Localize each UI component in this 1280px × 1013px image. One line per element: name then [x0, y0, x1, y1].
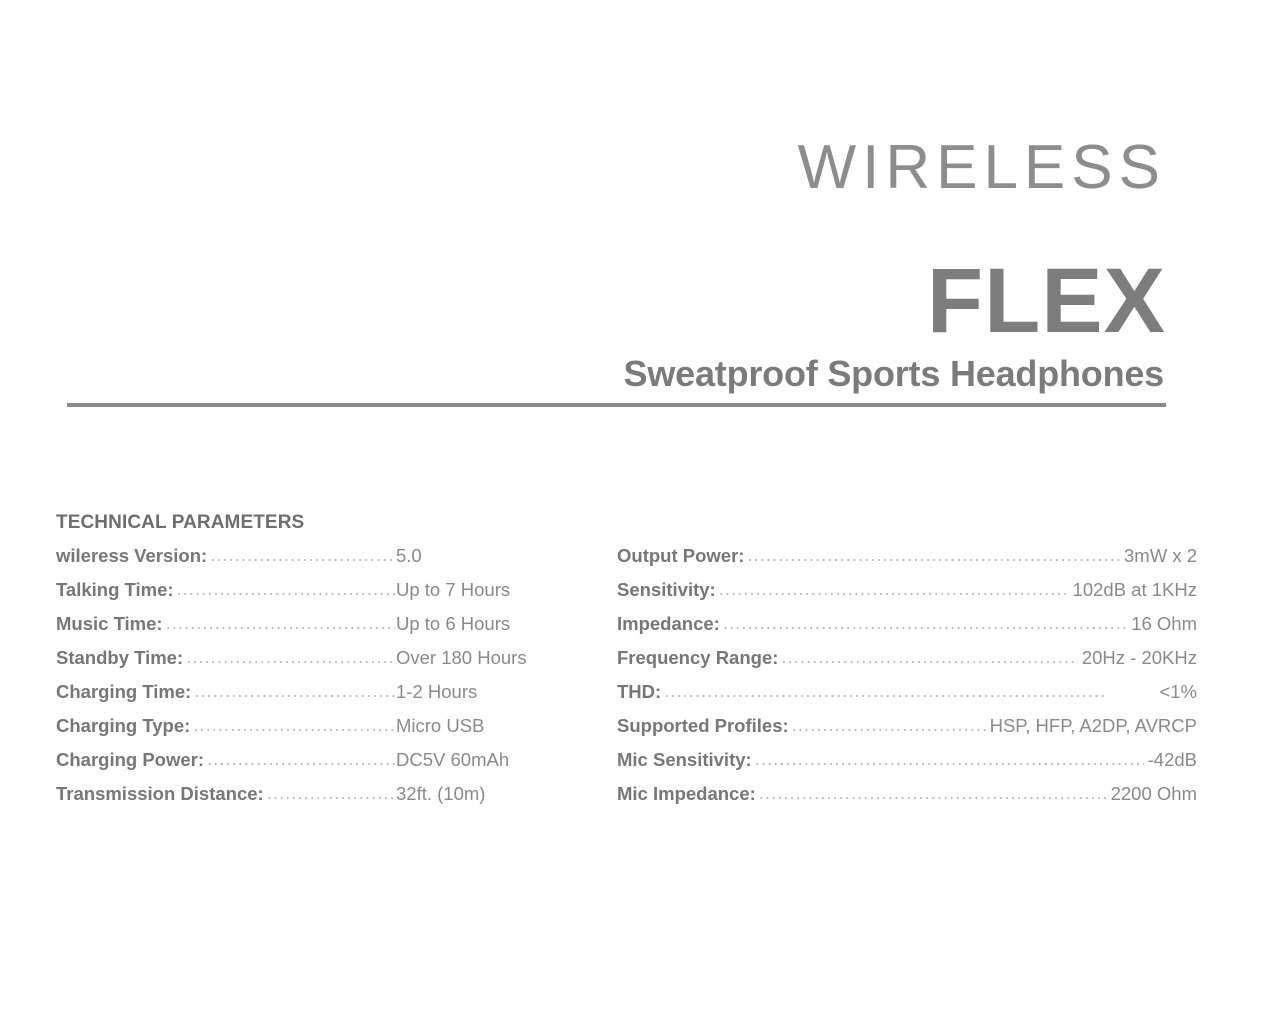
spec-dot-leader [792, 715, 986, 736]
spec-row: Standby Time:Over 180 Hours [56, 647, 556, 681]
spec-label: Charging Power: [56, 749, 204, 771]
spec-row: Mic Impedance:2200 Ohm [617, 783, 1197, 817]
spec-value: 16 Ohm [1131, 613, 1197, 635]
product-eyebrow-wireless: WIRELESS [798, 137, 1166, 199]
spec-row: Charging Time:1-2 Hours [56, 681, 556, 715]
spec-dot-leader [759, 783, 1107, 804]
spec-dot-leader [664, 681, 1155, 702]
spec-label: Charging Time: [56, 681, 191, 703]
spec-row: Output Power:3mW x 2 [617, 545, 1197, 579]
spec-value: 102dB at 1KHz [1073, 579, 1197, 601]
spec-value: 3mW x 2 [1124, 545, 1197, 567]
spec-dot-leader [177, 579, 395, 600]
spec-dot-leader [210, 545, 395, 566]
spec-label: Impedance: [617, 613, 720, 635]
spec-value: 1-2 Hours [396, 681, 556, 703]
spec-dot-leader [781, 647, 1077, 668]
spec-dot-leader [166, 613, 395, 634]
spec-label: Mic Sensitivity: [617, 749, 752, 771]
spec-row: Music Time:Up to 6 Hours [56, 613, 556, 647]
spec-row: wileress Version:5.0 [56, 545, 556, 579]
spec-row: Frequency Range:20Hz - 20KHz [617, 647, 1197, 681]
spec-value: Micro USB [396, 715, 556, 737]
spec-dot-leader [193, 715, 395, 736]
spec-label: Transmission Distance: [56, 783, 264, 805]
spec-value: 2200 Ohm [1111, 783, 1197, 805]
technical-parameters-heading: TECHNICAL PARAMETERS [56, 512, 304, 534]
spec-row: Mic Sensitivity:-42dB [617, 749, 1197, 783]
spec-label: wileress Version: [56, 545, 207, 567]
spec-column-left: wileress Version:5.0Talking Time:Up to 7… [56, 545, 556, 817]
spec-row: Sensitivity:102dB at 1KHz [617, 579, 1197, 613]
spec-label: Mic Impedance: [617, 783, 756, 805]
spec-row: Supported Profiles:HSP, HFP, A2DP, AVRCP [617, 715, 1197, 749]
spec-dot-leader [194, 681, 395, 702]
spec-value: HSP, HFP, A2DP, AVRCP [990, 715, 1197, 737]
spec-value: Over 180 Hours [396, 647, 556, 669]
spec-value: 5.0 [396, 545, 556, 567]
spec-value: <1% [1159, 681, 1197, 703]
spec-row: Transmission Distance:32ft. (10m) [56, 783, 556, 817]
spec-label: Sensitivity: [617, 579, 716, 601]
spec-row: Charging Power:DC5V 60mAh [56, 749, 556, 783]
spec-label: Output Power: [617, 545, 744, 567]
spec-label: Charging Type: [56, 715, 190, 737]
product-brand-name: FLEX [927, 255, 1166, 347]
spec-value: 20Hz - 20KHz [1082, 647, 1197, 669]
spec-row: Talking Time:Up to 7 Hours [56, 579, 556, 613]
header-divider-rule [67, 403, 1166, 407]
spec-dot-leader [719, 579, 1069, 600]
spec-row: Charging Type:Micro USB [56, 715, 556, 749]
spec-label: Standby Time: [56, 647, 183, 669]
spec-label: Frequency Range: [617, 647, 778, 669]
spec-column-right: Output Power:3mW x 2Sensitivity:102dB at… [617, 545, 1197, 817]
spec-dot-leader [755, 749, 1144, 770]
spec-label: Talking Time: [56, 579, 174, 601]
spec-row: Impedance:16 Ohm [617, 613, 1197, 647]
spec-value: DC5V 60mAh [396, 749, 556, 771]
spec-dot-leader [747, 545, 1120, 566]
product-tagline: Sweatproof Sports Headphones [624, 356, 1164, 392]
spec-dot-leader [186, 647, 395, 668]
spec-value: Up to 6 Hours [396, 613, 556, 635]
spec-label: THD: [617, 681, 661, 703]
spec-value: 32ft. (10m) [396, 783, 556, 805]
spec-label: Music Time: [56, 613, 163, 635]
spec-value: -42dB [1148, 749, 1197, 771]
spec-dot-leader [723, 613, 1127, 634]
spec-dot-leader [267, 783, 395, 804]
spec-label: Supported Profiles: [617, 715, 789, 737]
spec-value: Up to 7 Hours [396, 579, 556, 601]
spec-row: THD:<1% [617, 681, 1197, 715]
spec-dot-leader [207, 749, 395, 770]
